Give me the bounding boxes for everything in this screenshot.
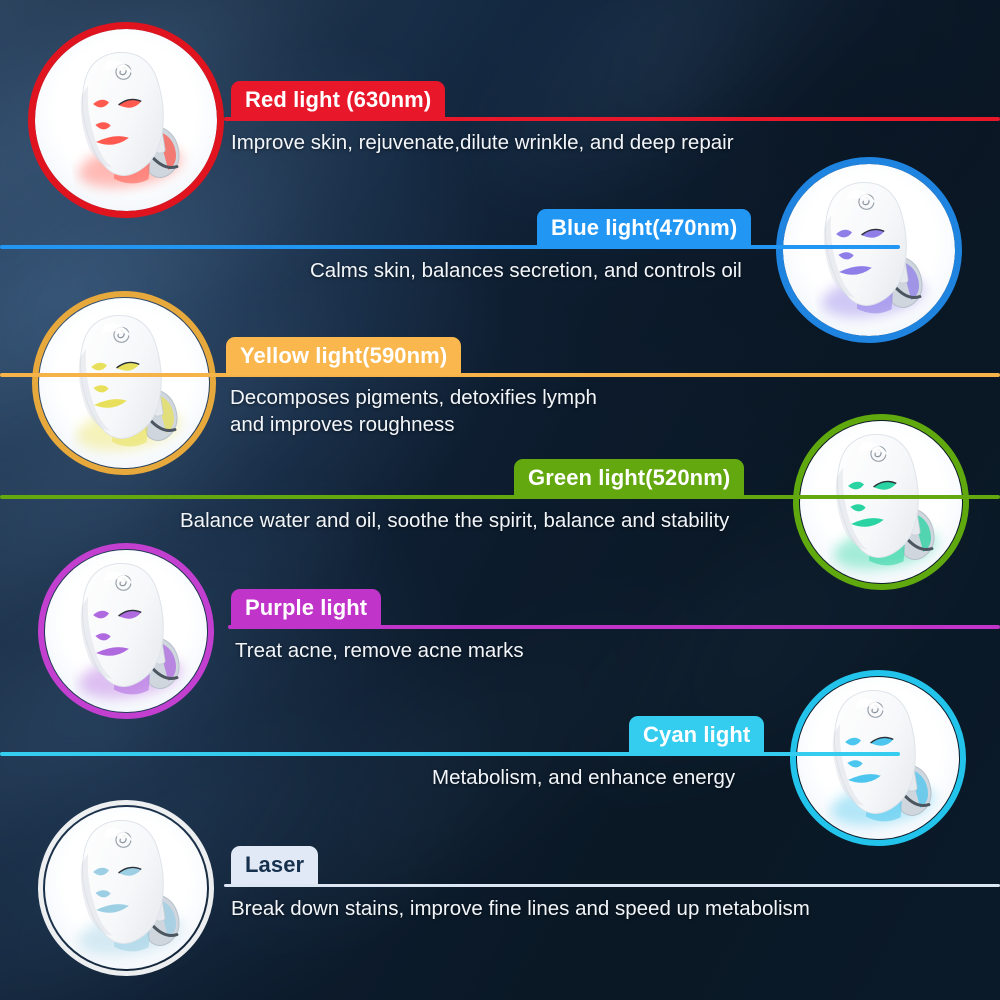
label-red-light: Red light (630nm) <box>231 81 445 119</box>
product-photo-cyan <box>790 670 966 846</box>
label-purple-light: Purple light <box>231 589 381 627</box>
description-laser: Break down stains, improve fine lines an… <box>231 895 951 922</box>
product-photo-red <box>28 22 224 218</box>
label-text-green: Green light(520nm) <box>528 465 730 491</box>
label-text-yellow: Yellow light(590nm) <box>240 343 447 369</box>
label-text-cyan: Cyan light <box>643 722 750 748</box>
label-blue-light: Blue light(470nm) <box>537 209 751 247</box>
divider-blue <box>0 245 900 249</box>
label-text-blue: Blue light(470nm) <box>551 215 737 241</box>
divider-laser <box>224 884 1000 887</box>
label-laser: Laser <box>231 846 318 884</box>
product-photo-laser <box>38 800 214 976</box>
product-photo-blue <box>776 157 962 343</box>
product-photo-green <box>793 414 969 590</box>
label-cyan-light: Cyan light <box>629 716 764 754</box>
description-purple: Treat acne, remove acne marks <box>235 637 885 664</box>
divider-cyan <box>0 752 900 756</box>
label-yellow-light: Yellow light(590nm) <box>226 337 461 375</box>
product-infographic-poster: Red light (630nm) Improve skin, rejuvena… <box>0 0 1000 1000</box>
label-text-purple: Purple light <box>245 595 367 621</box>
label-text-laser: Laser <box>245 852 304 878</box>
description-yellow: Decomposes pigments, detoxifies lymph an… <box>230 384 930 438</box>
description-cyan: Metabolism, and enhance energy <box>432 764 1000 791</box>
divider-yellow <box>0 373 1000 377</box>
divider-green <box>0 495 1000 499</box>
label-text-red: Red light (630nm) <box>245 87 431 113</box>
description-blue: Calms skin, balances secretion, and cont… <box>310 257 970 284</box>
label-green-light: Green light(520nm) <box>514 459 744 497</box>
description-green: Balance water and oil, soothe the spirit… <box>180 507 970 534</box>
product-photo-purple <box>38 543 214 719</box>
product-photo-yellow <box>32 291 216 475</box>
description-red: Improve skin, rejuvenate,dilute wrinkle,… <box>231 129 931 156</box>
